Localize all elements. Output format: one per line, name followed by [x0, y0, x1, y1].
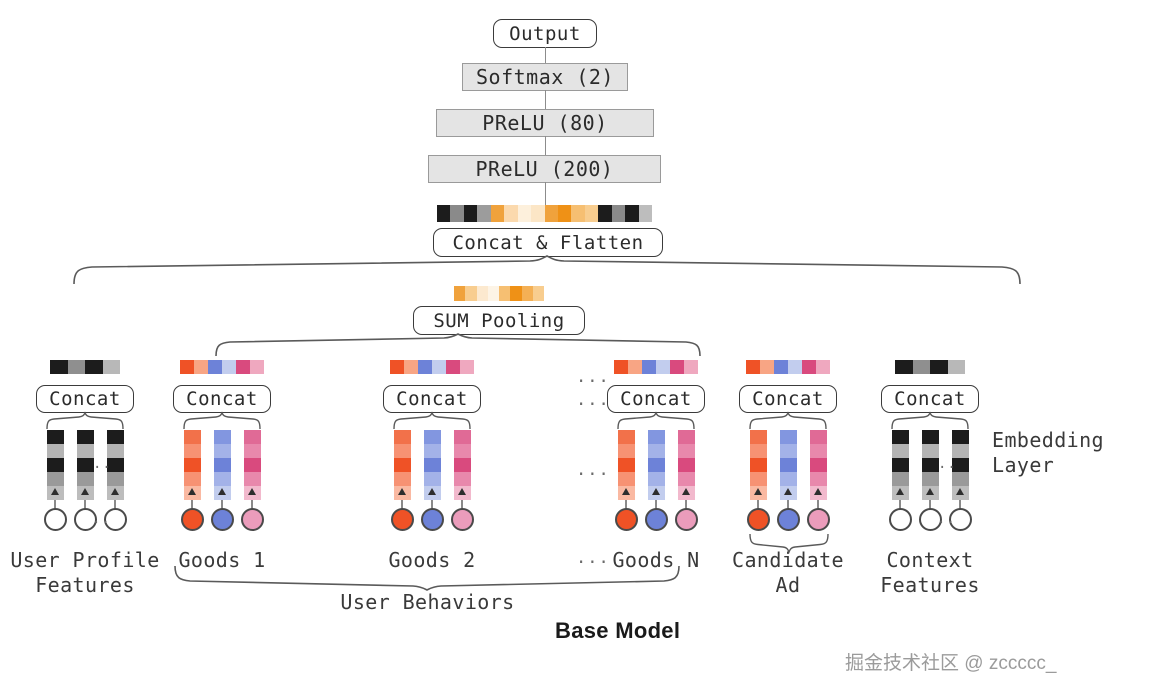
embedding-cell	[922, 458, 939, 472]
goods-2-field-3-arrowhead	[458, 488, 466, 495]
watermark: 掘金技术社区 @ zccccc_	[845, 648, 1056, 675]
user-profile-features-field-3-arrowhead	[111, 488, 119, 495]
embedding-cell	[77, 472, 94, 486]
embedding-cell	[47, 430, 64, 444]
embedding-cell	[678, 444, 695, 458]
vector-cell	[558, 205, 571, 222]
embedding-cell	[184, 472, 201, 486]
user-profile-features-field-1-input-node	[44, 508, 67, 531]
goods-1-field-1-input-node	[181, 508, 204, 531]
embedding-cell	[47, 472, 64, 486]
softmax-layer: Softmax (2)	[462, 63, 628, 91]
candidate-ad-field-2-input-node	[777, 508, 800, 531]
embedding-cell	[952, 472, 969, 486]
context-features-field-1-arrowhead	[896, 488, 904, 495]
user-profile-features-field-brace	[45, 413, 125, 429]
ellipsis-goods-concat: ...	[576, 390, 610, 410]
vector-cell	[930, 360, 948, 374]
vector-cell	[488, 286, 499, 301]
vector-cell	[533, 286, 544, 301]
embedding-cell	[810, 430, 827, 444]
vector-cell	[585, 205, 598, 222]
embedding-cell	[678, 458, 695, 472]
vector-cell	[510, 286, 521, 301]
goods-n-concat-node: Concat	[607, 385, 705, 413]
embedding-cell	[678, 430, 695, 444]
goods-n-field-brace	[616, 413, 696, 429]
embedding-cell	[750, 444, 767, 458]
vector-cell	[460, 360, 474, 374]
goods-1-field-3-input-node	[241, 508, 264, 531]
goods-n-field-1-arrowhead	[622, 488, 630, 495]
vector-cell	[491, 205, 504, 222]
vector-cell	[774, 360, 788, 374]
candidate-ad-field-1-input-node	[747, 508, 770, 531]
context-features-concat-vector	[895, 360, 965, 374]
embedding-layer-label: Embedding Layer	[992, 428, 1104, 478]
vector-cell	[816, 360, 830, 374]
embedding-cell	[214, 472, 231, 486]
goods-2-field-2-arrowhead	[428, 488, 436, 495]
vector-cell	[477, 205, 490, 222]
edge-softmax-prelu80	[545, 90, 546, 109]
sum-pooling-node: SUM Pooling	[413, 306, 585, 335]
vector-cell	[465, 286, 476, 301]
vector-cell	[531, 205, 544, 222]
user-profile-features-concat-vector	[50, 360, 120, 374]
vector-cell	[656, 360, 670, 374]
context-features-label: Context Features	[840, 548, 1020, 598]
embedding-cell	[77, 458, 94, 472]
embedding-cell	[922, 444, 939, 458]
goods-n-field-3-input-node	[675, 508, 698, 531]
embedding-cell	[648, 472, 665, 486]
vector-cell	[450, 205, 463, 222]
embedding-cell	[618, 444, 635, 458]
goods-n-field-2-input-node	[645, 508, 668, 531]
embedding-cell	[892, 458, 909, 472]
vector-cell	[437, 205, 450, 222]
candidate-ad-concat-vector	[746, 360, 830, 374]
embedding-cell	[424, 444, 441, 458]
candidate-ad-field-3-input-node	[807, 508, 830, 531]
output-node: Output	[493, 19, 597, 48]
embedding-cell	[952, 430, 969, 444]
prelu-80-layer: PReLU (80)	[436, 109, 654, 137]
user-profile-features-concat-node: Concat	[36, 385, 134, 413]
embedding-cell	[750, 472, 767, 486]
embedding-cell	[454, 444, 471, 458]
goods-1-field-brace	[182, 413, 262, 429]
embedding-cell	[454, 472, 471, 486]
vector-cell	[518, 205, 531, 222]
embedding-cell	[424, 472, 441, 486]
vector-cell	[760, 360, 774, 374]
embedding-cell	[244, 444, 261, 458]
vector-cell	[208, 360, 222, 374]
vector-cell	[746, 360, 760, 374]
vector-cell	[454, 286, 465, 301]
goods-2-field-3-input-node	[451, 508, 474, 531]
goods-1-field-2-arrowhead	[218, 488, 226, 495]
vector-cell	[913, 360, 931, 374]
goods-2-concat-vector	[390, 360, 474, 374]
embedding-cell	[77, 430, 94, 444]
context-features-field-2-arrowhead	[926, 488, 934, 495]
embedding-cell	[750, 430, 767, 444]
embedding-cell	[394, 472, 411, 486]
vector-cell	[477, 286, 488, 301]
goods-1-field-1-arrowhead	[188, 488, 196, 495]
embedding-cell	[107, 430, 124, 444]
embedding-cell	[394, 458, 411, 472]
vector-cell	[499, 286, 510, 301]
embedding-cell	[810, 444, 827, 458]
user-profile-features-field-2-arrowhead	[81, 488, 89, 495]
embedding-cell	[922, 430, 939, 444]
goods-2-field-1-input-node	[391, 508, 414, 531]
embedding-cell	[184, 430, 201, 444]
embedding-cell	[648, 430, 665, 444]
embedding-cell	[892, 430, 909, 444]
vector-cell	[642, 360, 656, 374]
vector-cell	[545, 205, 558, 222]
vector-cell	[571, 205, 584, 222]
vector-cell	[446, 360, 460, 374]
vector-cell	[802, 360, 816, 374]
embedding-cell	[424, 430, 441, 444]
vector-cell	[404, 360, 418, 374]
embedding-cell	[184, 458, 201, 472]
goods-2-field-brace	[392, 413, 472, 429]
candidate-ad-field-3-arrowhead	[814, 488, 822, 495]
goods-1-field-3-arrowhead	[248, 488, 256, 495]
embedding-cell	[780, 472, 797, 486]
vector-cell	[464, 205, 477, 222]
candidate-ad-field-2-arrowhead	[784, 488, 792, 495]
embedding-cell	[892, 444, 909, 458]
vector-cell	[788, 360, 802, 374]
vector-cell	[670, 360, 684, 374]
ellipsis-goods-label: ...	[576, 548, 610, 568]
context-features-inner-ellipsis-node: ..	[937, 511, 956, 527]
figure-title: Base Model	[555, 618, 680, 644]
embedding-cell	[648, 458, 665, 472]
vector-cell	[250, 360, 264, 374]
vector-cell	[50, 360, 68, 374]
embedding-cell	[107, 472, 124, 486]
candidate-ad-concat-node: Concat	[739, 385, 837, 413]
embedding-cell	[780, 458, 797, 472]
embedding-cell	[214, 430, 231, 444]
vector-cell	[68, 360, 86, 374]
goods-1-field-2-input-node	[211, 508, 234, 531]
embedding-cell	[678, 472, 695, 486]
goods-1-concat-vector	[180, 360, 264, 374]
vector-cell	[504, 205, 517, 222]
embedding-cell	[618, 430, 635, 444]
goods-2-field-1-arrowhead	[398, 488, 406, 495]
embedding-cell	[648, 444, 665, 458]
candidate-ad-field-brace	[748, 413, 828, 429]
user-behaviors-brace	[172, 566, 682, 590]
context-features-inner-ellipsis-embedding: ..	[938, 456, 957, 472]
embedding-cell	[780, 430, 797, 444]
embedding-cell	[47, 458, 64, 472]
goods-1-concat-node: Concat	[173, 385, 271, 413]
goods-n-field-2-arrowhead	[652, 488, 660, 495]
embedding-cell	[77, 444, 94, 458]
embedding-cell	[394, 430, 411, 444]
embedding-cell	[780, 444, 797, 458]
embedding-cell	[618, 458, 635, 472]
edge-output-softmax	[545, 47, 546, 64]
embedding-cell	[244, 458, 261, 472]
goods-n-field-3-arrowhead	[682, 488, 690, 495]
vector-cell	[684, 360, 698, 374]
candidate-ad-brace	[748, 534, 830, 552]
vector-cell	[598, 205, 611, 222]
embedding-cell	[184, 444, 201, 458]
embedding-cell	[214, 444, 231, 458]
embedding-cell	[424, 458, 441, 472]
prelu-200-layer: PReLU (200)	[428, 155, 661, 183]
user-profile-features-inner-ellipsis-embedding: ..	[93, 456, 112, 472]
embedding-cell	[244, 472, 261, 486]
embedding-cell	[750, 458, 767, 472]
user-profile-features-inner-ellipsis-node: ..	[92, 511, 111, 527]
vector-cell	[522, 286, 533, 301]
goods-2-concat-node: Concat	[383, 385, 481, 413]
context-features-field-brace	[890, 413, 970, 429]
embedding-cell	[810, 472, 827, 486]
ellipsis-goods-top: ...	[576, 367, 610, 387]
embedding-cell	[454, 458, 471, 472]
vector-cell	[639, 205, 652, 222]
goods-2-field-2-input-node	[421, 508, 444, 531]
embedding-cell	[810, 458, 827, 472]
vector-cell	[628, 360, 642, 374]
context-features-field-3-arrowhead	[956, 488, 964, 495]
context-features-concat-node: Concat	[881, 385, 979, 413]
goods-n-concat-vector	[614, 360, 698, 374]
embedding-cell	[922, 472, 939, 486]
sum-pooling-brace	[213, 334, 703, 358]
user-profile-features-field-1-arrowhead	[51, 488, 59, 495]
embedding-cell	[47, 444, 64, 458]
embedding-cell	[214, 458, 231, 472]
context-features-field-1-input-node	[889, 508, 912, 531]
embedding-cell	[618, 472, 635, 486]
candidate-ad-field-1-arrowhead	[754, 488, 762, 495]
embedding-cell	[454, 430, 471, 444]
vector-cell	[895, 360, 913, 374]
concat-flatten-vector	[437, 205, 652, 222]
vector-cell	[418, 360, 432, 374]
vector-cell	[236, 360, 250, 374]
user-behaviors-label: User Behaviors	[280, 590, 575, 615]
sum-pooling-vector	[454, 286, 544, 301]
vector-cell	[85, 360, 103, 374]
vector-cell	[612, 205, 625, 222]
edge-prelu200-concat	[545, 182, 546, 205]
goods-n-field-1-input-node	[615, 508, 638, 531]
embedding-cell	[244, 430, 261, 444]
edge-prelu80-prelu200	[545, 136, 546, 155]
ellipsis-goods-embedding: ...	[576, 460, 610, 480]
vector-cell	[180, 360, 194, 374]
diagram-canvas: Output Softmax (2) PReLU (80) PReLU (200…	[0, 0, 1150, 688]
embedding-layer-brace	[70, 256, 1015, 286]
embedding-cell	[394, 444, 411, 458]
vector-cell	[948, 360, 966, 374]
vector-cell	[103, 360, 121, 374]
vector-cell	[222, 360, 236, 374]
vector-cell	[614, 360, 628, 374]
concat-flatten-node: Concat & Flatten	[433, 228, 663, 257]
vector-cell	[194, 360, 208, 374]
vector-cell	[390, 360, 404, 374]
embedding-cell	[892, 472, 909, 486]
vector-cell	[625, 205, 638, 222]
vector-cell	[432, 360, 446, 374]
